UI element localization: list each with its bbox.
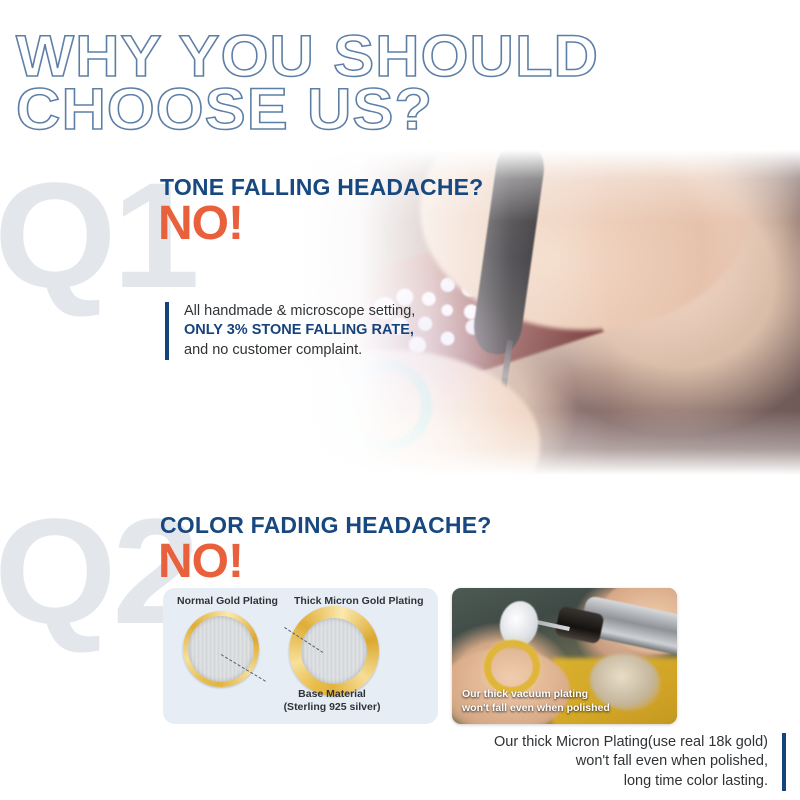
bottom-note-line-2: won't fall even when polished, [494, 752, 768, 771]
thick-plating-label: Thick Micron Gold Plating [294, 595, 424, 607]
base-material-caption: Base Material (Sterling 925 silver) [247, 688, 417, 713]
q1-answer: NO! [158, 200, 243, 248]
q1-note-line-1: All handmade & microscope setting, [184, 302, 415, 321]
bottom-note-line-3: long time color lasting. [494, 772, 768, 791]
q2-answer: NO! [158, 538, 243, 586]
normal-plating-silver-core [188, 616, 254, 682]
thick-plating-coin-icon [289, 606, 379, 696]
normal-plating-coin-icon [183, 611, 259, 687]
q1-note-line-2: ONLY 3% STONE FALLING RATE, [184, 321, 415, 340]
q2-photo: Our thick vacuum plating won't fall even… [452, 588, 677, 724]
q1-note-line-3: and no customer complaint. [184, 341, 415, 360]
q1-note: All handmade & microscope setting, ONLY … [165, 302, 415, 360]
normal-plating-label: Normal Gold Plating [177, 595, 278, 607]
plating-comparison-diagram: Normal Gold Plating Thick Micron Gold Pl… [163, 588, 438, 724]
page-title: WHY YOU SHOULD CHOOSE US? [16, 30, 800, 137]
q2-photo-caption: Our thick vacuum plating won't fall even… [462, 688, 610, 715]
bottom-note: Our thick Micron Plating(use real 18k go… [494, 733, 786, 791]
thick-plating-silver-core [301, 618, 367, 684]
bottom-note-line-1: Our thick Micron Plating(use real 18k go… [494, 733, 768, 752]
